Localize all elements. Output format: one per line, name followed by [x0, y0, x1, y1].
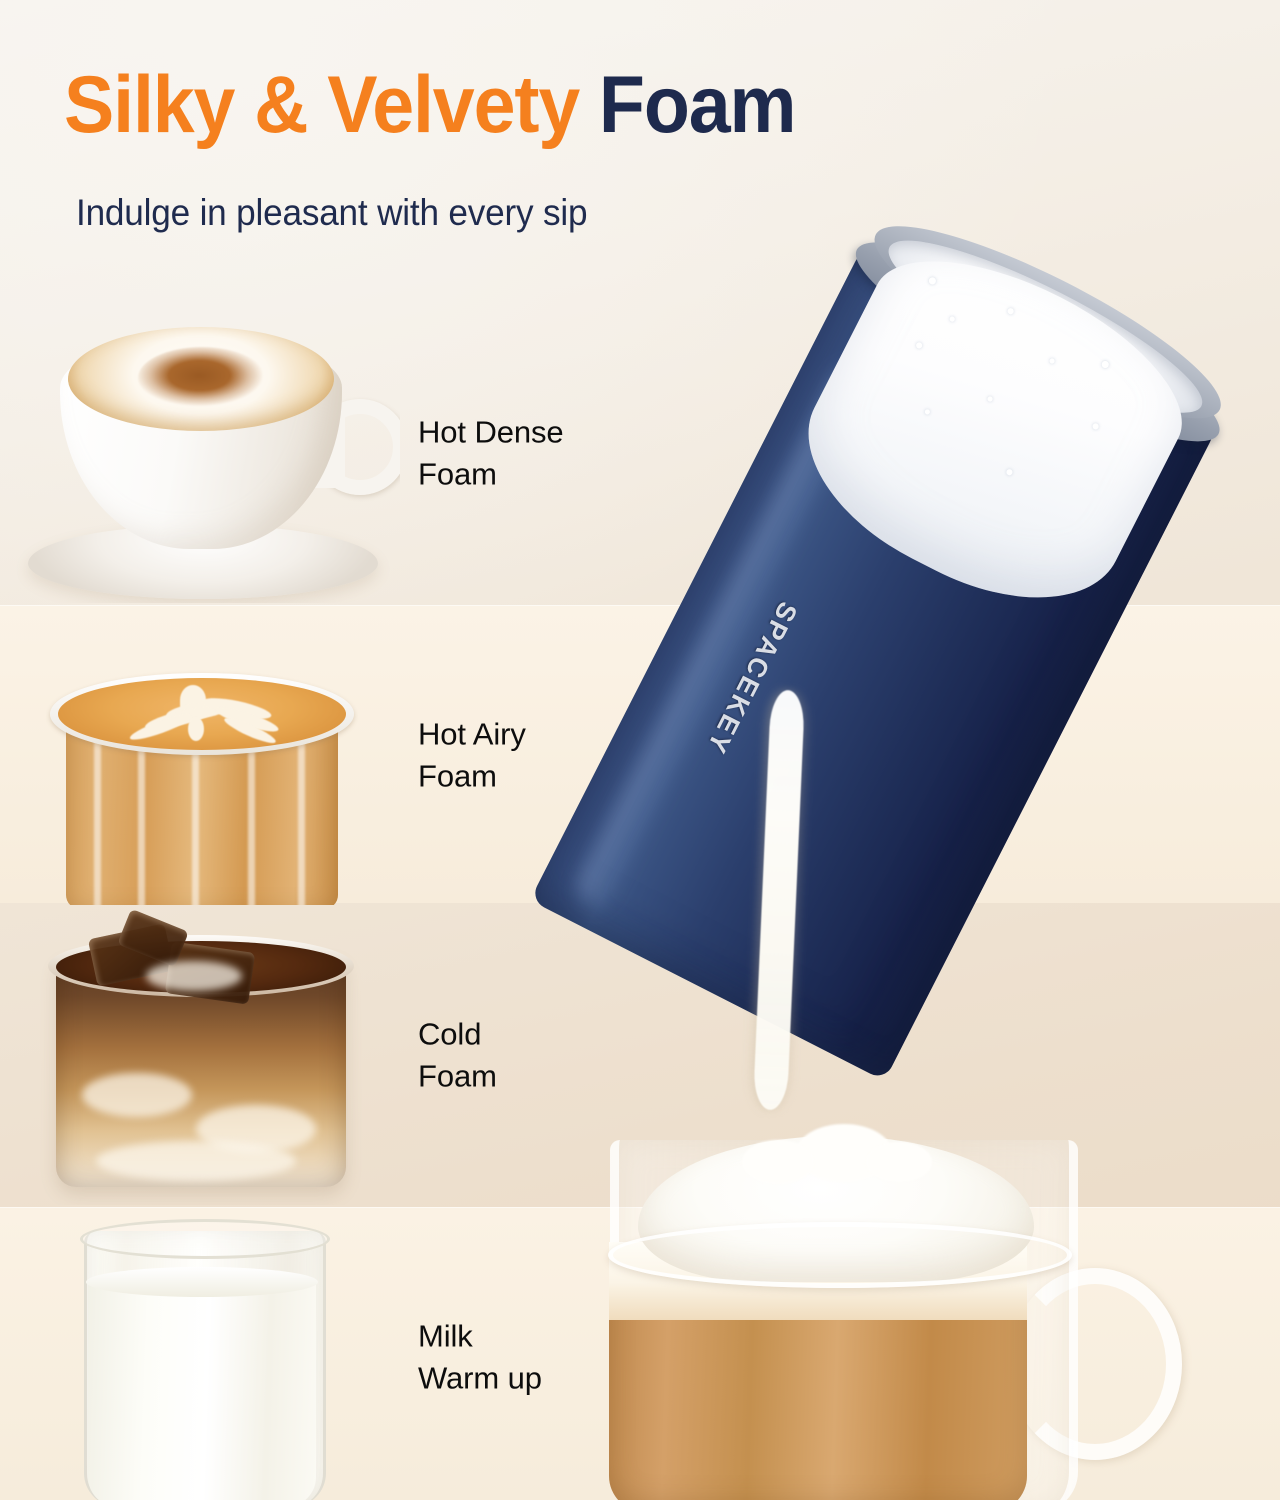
feature-label-hot-airy-foam: Hot Airy Foam: [418, 713, 526, 796]
title-highlight: Silky & Velvety: [64, 60, 579, 150]
feature-row-cold-foam: Cold Foam: [0, 905, 700, 1205]
milk-swirl: [146, 961, 242, 991]
feature-row-hot-dense-foam: Hot Dense Foam: [0, 303, 700, 603]
mug-rim: [608, 1222, 1072, 1288]
feature-row-milk-warm-up: Milk Warm up: [0, 1207, 700, 1500]
page-subtitle: Indulge in pleasant with every sip: [76, 192, 587, 234]
latte-liquid: [609, 1300, 1027, 1500]
milk-liquid: [88, 1281, 316, 1500]
iced-coffee-image: [0, 905, 400, 1205]
feature-label-milk-warm-up: Milk Warm up: [418, 1315, 542, 1398]
page-title: Silky & Velvety Foam: [64, 64, 795, 147]
cocoa-dusting: [138, 347, 266, 409]
product-feature-graphic: Silky & Velvety Foam Indulge in pleasant…: [0, 0, 1280, 1500]
feature-label-cold-foam: Cold Foam: [418, 1013, 497, 1096]
latte-mug: [600, 1110, 1160, 1500]
cappuccino-cup-image: [0, 303, 400, 603]
rosetta-latte-art: [110, 687, 296, 743]
milk-surface: [86, 1267, 318, 1297]
milk-glass-image: [0, 1207, 400, 1500]
latte-glass-image: [0, 605, 400, 905]
title-rest: Foam: [579, 60, 795, 150]
glass-rim-shape: [80, 1219, 330, 1259]
feature-label-hot-dense-foam: Hot Dense Foam: [418, 411, 564, 494]
